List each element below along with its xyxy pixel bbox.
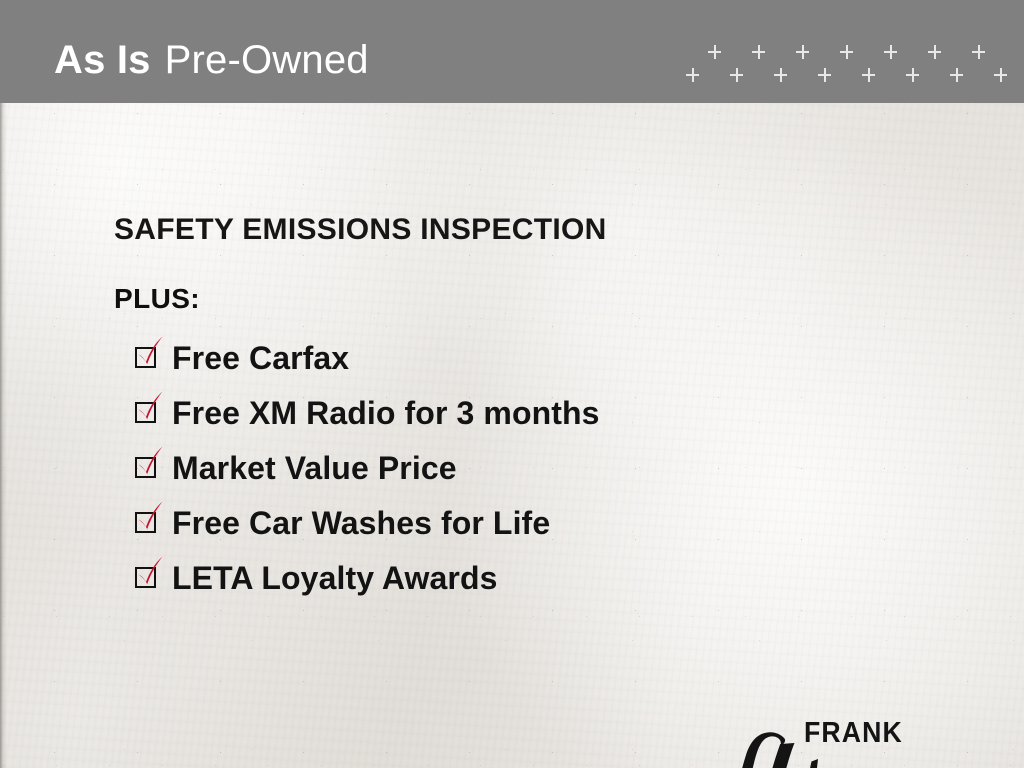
page-title-light: Pre-Owned xyxy=(165,38,369,82)
checked-checkbox-icon xyxy=(134,401,158,425)
checked-checkbox-icon xyxy=(134,456,158,480)
list-item: Free XM Radio for 3 months xyxy=(134,391,894,446)
plus-decoration-row-top xyxy=(704,44,1012,60)
plus-mark-icon xyxy=(990,67,1024,83)
plus-mark-icon xyxy=(748,44,792,60)
plus-decoration-group xyxy=(660,0,1024,103)
checkmark-icon xyxy=(133,500,167,534)
plus-mark-icon xyxy=(836,44,880,60)
checked-checkbox-icon xyxy=(134,511,158,535)
benefits-checklist: Free Carfax Free XM Radio for 3 months xyxy=(134,336,894,611)
list-item-label: Free Carfax xyxy=(172,336,349,380)
list-item: LETA Loyalty Awards xyxy=(134,556,894,611)
checkmark-icon xyxy=(133,445,167,479)
list-item: Market Value Price xyxy=(134,446,894,501)
heading-safety-emissions-inspection: SAFETY EMISSIONS INSPECTION xyxy=(114,213,607,247)
list-item-label: Free XM Radio for 3 months xyxy=(172,391,600,435)
plus-mark-icon xyxy=(770,67,814,83)
checkmark-icon xyxy=(133,390,167,424)
heading-plus: PLUS: xyxy=(114,283,200,315)
plus-mark-icon xyxy=(682,67,726,83)
plus-mark-icon xyxy=(814,67,858,83)
list-item-label: Market Value Price xyxy=(172,446,457,490)
logo-leta-script-icon xyxy=(700,729,915,768)
list-item: Free Carfax xyxy=(134,336,894,391)
checked-checkbox-icon xyxy=(134,346,158,370)
plus-mark-icon xyxy=(704,44,748,60)
plus-mark-icon xyxy=(902,67,946,83)
plus-mark-icon xyxy=(792,44,836,60)
plus-decoration-row-bottom xyxy=(682,67,1024,83)
header-band: As IsPre-Owned xyxy=(0,0,1024,103)
slide-body: SAFETY EMISSIONS INSPECTION PLUS: Free C… xyxy=(0,103,1024,768)
plus-mark-icon xyxy=(858,67,902,83)
checked-checkbox-icon xyxy=(134,566,158,590)
list-item: Free Car Washes for Life xyxy=(134,501,894,556)
page-title: As IsPre-Owned xyxy=(54,36,369,84)
plus-mark-icon xyxy=(880,44,924,60)
list-item-label: LETA Loyalty Awards xyxy=(172,556,498,600)
slide-canvas: As IsPre-Owned xyxy=(0,0,1024,768)
plus-mark-icon xyxy=(726,67,770,83)
plus-mark-icon xyxy=(924,44,968,60)
list-item-label: Free Car Washes for Life xyxy=(172,501,550,545)
frank-leta-logo: FRANK xyxy=(700,711,915,768)
plus-mark-icon xyxy=(968,44,1012,60)
checkmark-icon xyxy=(133,555,167,589)
plus-mark-icon xyxy=(946,67,990,83)
checkmark-icon xyxy=(133,335,167,369)
page-title-strong: As Is xyxy=(54,38,151,82)
